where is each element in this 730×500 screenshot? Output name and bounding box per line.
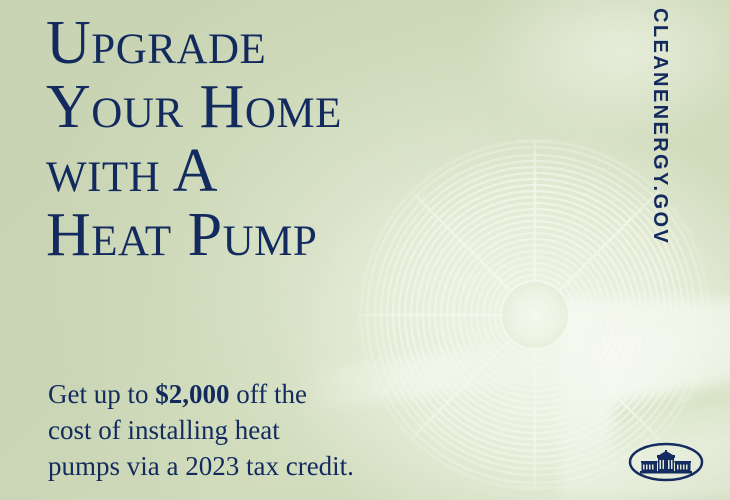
headline-line-1: Upgrade bbox=[46, 12, 626, 76]
body-line-3: pumps via a 2023 tax credit. bbox=[48, 448, 518, 484]
headline-line-4: Heat Pump bbox=[46, 204, 626, 268]
body-copy: Get up to $2,000 off the cost of install… bbox=[48, 376, 518, 485]
body-line-1-suffix: off the bbox=[230, 379, 307, 409]
body-line-2: cost of installing heat bbox=[48, 412, 518, 448]
heat-pump-poster: Upgrade Your Home with A Heat Pump Get u… bbox=[0, 0, 730, 500]
headline-line-3: with A bbox=[46, 140, 626, 204]
website-url[interactable]: CLEANENERGY.GOV bbox=[640, 8, 680, 288]
body-line-1: Get up to $2,000 off the bbox=[48, 376, 518, 412]
body-line-1-prefix: Get up to bbox=[48, 379, 155, 409]
incentive-amount: $2,000 bbox=[155, 379, 229, 409]
page-title: Upgrade Your Home with A Heat Pump bbox=[46, 12, 626, 267]
white-house-seal-icon bbox=[628, 437, 704, 487]
headline-line-2: Your Home bbox=[46, 76, 626, 140]
